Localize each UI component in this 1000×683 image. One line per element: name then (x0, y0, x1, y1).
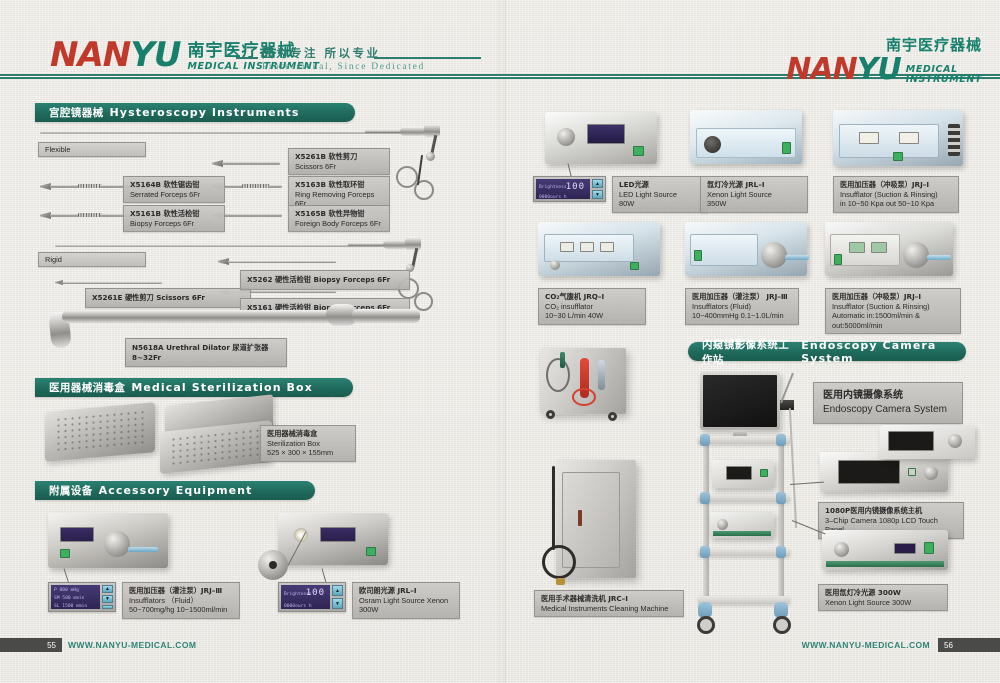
sterilization-box-caption-cn: 医用器械消毒盒 (267, 429, 349, 439)
caption-insufflator-fluid-en: Insufflators （Fluid） (129, 596, 233, 606)
cleaning-machine-top-caster-right (608, 412, 617, 421)
brand-wordmark-right: NANYU (786, 55, 901, 85)
rigid-biopsy-shaft-1 (228, 261, 336, 263)
lcd-led-label: Brightness (539, 185, 567, 190)
caption-xenon-en: Xenon Light Source (707, 190, 801, 200)
device-xenon-300w-stripe (826, 561, 944, 567)
device-xenon-300w (822, 530, 948, 570)
brand-wordmark-nan: NAN (50, 35, 130, 75)
device-insufflator-fluid (48, 513, 168, 568)
device-insufflator-fluid-2-power-led (694, 250, 702, 261)
rigid-scope-shaft (55, 245, 355, 247)
device-insufflator-suction-2-display-a (849, 242, 865, 253)
device-co2-display-c (600, 242, 614, 252)
lcd-button-down[interactable]: ▼ (102, 595, 113, 603)
lcd-callout-osram-screen: Brightness 100 0000ours h (281, 585, 330, 609)
device-osram-power-led (366, 547, 376, 556)
device-insufflator-suction-1-display-a (859, 132, 879, 144)
device-co2-display-b (580, 242, 594, 252)
caption-insufflator-fluid-2: 医用加压器（灌注泵） JRJ–Ⅲ Insufflators (Fluid) 10… (685, 288, 799, 325)
cart-camera-unit-screen (726, 466, 752, 480)
instrument-caption-x5262: X5262 硬性活检钳 Biopsy Forceps 6Fr (240, 270, 410, 290)
lcd-callout-insufflator-fluid-screen: P 000 mHg SM 500 mmin SL 1500 mmin (51, 585, 100, 609)
caption-xenon-300w-cn: 医用氙灯冷光源 300W (825, 588, 941, 598)
cleaning-machine-green-handle (560, 352, 565, 368)
page-spine (498, 0, 506, 683)
instrument-caption-x5161b: X5161B 软性活检钳 Biopsy Forceps 6Fr (123, 205, 225, 232)
device-xenon-power-led (782, 142, 791, 154)
rigid-handle-ring-2 (414, 292, 433, 311)
scope-connector (400, 127, 426, 136)
endoscopy-monitor-screen (703, 375, 777, 427)
lcd-led-value: 100 (566, 182, 585, 192)
section-banner-accessory-en: Accessory Equipment (99, 484, 253, 497)
device-led-knob (557, 128, 575, 146)
group-label-rigid-text: Rigid (45, 255, 62, 264)
cart-joint-3r (776, 546, 786, 558)
caption-insufflator-suction-1-en: Insufflator (Suction & Rinsing) (840, 190, 952, 200)
lcd-callout-led-buttons[interactable]: ▲ ▼ (592, 179, 603, 199)
forceps-shaft-1a (50, 185, 80, 188)
leader-line-camera-host (790, 482, 824, 485)
flexible-scope-shaft (40, 132, 370, 134)
lcd-button-up[interactable]: ▲ (102, 585, 113, 593)
section-banner-hysteroscopy-cn: 宫腔镜器械 (49, 105, 104, 120)
sterilization-box-caption-dims: 525 × 300 × 155mm (267, 448, 349, 458)
instrument-caption-x5164b-cn: X5164B 软性锯齿钳 (130, 180, 218, 190)
instrument-caption-x5163b-cn: X5163B 软性取环钳 (295, 180, 383, 190)
device-camera-host-connector (924, 466, 938, 480)
device-insufflator-fluid-pump-head (104, 531, 130, 557)
forceps-ribbed-2 (78, 213, 102, 217)
endoscope-shaft (780, 373, 794, 403)
cleaning-machine-red-coil (572, 388, 596, 406)
cart-light-source-unit-stripe (713, 531, 771, 536)
caption-xenon-300w: 医用氙灯冷光源 300W Xenon Light Source 300W (818, 584, 948, 611)
sterilization-box-perforation (55, 409, 145, 455)
caption-camera-system: 医用内镜摄像系统 Endoscopy Camera System (813, 382, 963, 424)
device-insufflator-suction-1 (833, 110, 963, 166)
device-led-light-source (545, 112, 657, 164)
ring-forceps-shaft-a (222, 185, 244, 188)
sterilization-box-caption-en: Sterilization Box (267, 439, 349, 449)
rigid-scope-tube (348, 243, 388, 247)
brand-wordmark-right-nan: NAN (786, 52, 856, 87)
device-co2-gas-port (550, 260, 560, 270)
caption-insufflator-suction-2-cn: 医用加压器（冲吸泵）JRJ–Ⅰ (832, 292, 954, 302)
caption-camera-system-cn: 医用内镜摄像系统 (823, 389, 953, 403)
cart-joint-tl (700, 434, 710, 446)
cart-post-left (703, 436, 709, 618)
scope-thumb-knob (426, 152, 435, 161)
ring-forceps-ribbed (242, 184, 270, 188)
device-insufflator-fluid-power-led (60, 549, 70, 558)
rigid-scope-connector (383, 240, 407, 249)
caption-co2-en: CO₂ insufflator (545, 302, 639, 312)
page-header: NANYU 南宇医疗器械 MEDICAL INSTRUMENT 因为专注 所以专… (0, 0, 1000, 80)
cleaning-machine-door-handle (578, 510, 582, 526)
lcd-callout-insufflator-fluid-buttons[interactable]: ▲ ▼ (102, 585, 113, 609)
page-number-left-text: 55 (47, 641, 56, 650)
caption-insufflator-fluid: 医用加压器（灌注泵）JRJ–Ⅲ Insufflators （Fluid） 50~… (122, 582, 240, 619)
caption-xenon-watt: 350W (707, 199, 801, 209)
lcd-button-set[interactable] (102, 605, 113, 609)
lcd-osram-button-down[interactable]: ▼ (332, 598, 343, 609)
dilator-shaft (62, 310, 332, 323)
brand-subtitle-right-2: INSTRUMENT (906, 75, 982, 85)
caption-cleaning-machine-en: Medical Instruments Cleaning Machine (541, 604, 677, 614)
device-insufflator-suction-2-tubing (927, 255, 951, 260)
caption-co2-insufflator: CO₂气腹机 JRQ–Ⅰ CO₂ insufflator 10~30 L/min… (538, 288, 646, 325)
device-insufflator-suction-1-power-led (893, 152, 903, 161)
osram-connector-center (269, 561, 277, 569)
cart-joint-tr (776, 434, 786, 446)
section-banner-sterilization-cn: 医用器械消毒盒 (49, 380, 125, 395)
caption-insufflator-suction-2-spec: Automatic in:1500ml/min & out:5000ml/min (832, 311, 954, 330)
lcd-row-3: SL 1500 mmin (54, 604, 87, 609)
device-insufflator-suction-1-display-b (899, 132, 919, 144)
rigid-scope-body (405, 237, 421, 250)
device-xenon-300w-light-port (834, 542, 849, 557)
section-banner-endoscopy-camera: 内窥镜影像系统工作站 Endoscopy Camera System (688, 342, 966, 361)
instrument-caption-x5165b-en: Foreign Body Forceps 6Fr (295, 219, 383, 229)
device-camera-host-touch-panel[interactable] (838, 460, 900, 484)
sterilization-box-closed (45, 402, 155, 462)
cart-light-source-unit-port (717, 519, 728, 530)
section-banner-hysteroscopy-en: Hysteroscopy Instruments (110, 106, 300, 119)
device-insufflator-fluid-screen (60, 527, 94, 542)
lcd-osram-value: 100 (306, 588, 325, 598)
page-number-left: 55 (0, 638, 62, 652)
instrument-caption-x5161b-cn: X5161B 软性活检钳 (130, 209, 218, 219)
lcd-callout-osram-buttons[interactable]: ▲ ▼ (332, 585, 343, 609)
caption-osram-en: Osram Light Source Xenon (359, 596, 453, 606)
instrument-caption-x5261b-en: Scissors 6Fr (295, 162, 383, 172)
caption-led-cn: LED光源 (619, 180, 701, 190)
device-insufflator-suction-2-power-led (834, 254, 842, 265)
lcd-row-2: SM 500 mmin (54, 596, 84, 601)
cleaning-machine-spray-gun (598, 360, 605, 390)
caption-insufflator-fluid-2-cn: 医用加压器（灌注泵） JRJ–Ⅲ (692, 292, 792, 302)
flexible-scope-tube (365, 130, 405, 134)
website-left[interactable]: WWW.NANYU-MEDICAL.COM (68, 638, 196, 652)
caption-xenon-cn: 氙灯冷光源 JRL–Ⅰ (707, 180, 801, 190)
endoscope-light-cable (789, 408, 797, 528)
device-insufflator-suction-1-panel (839, 124, 939, 158)
brand-wordmark: NANYU (50, 38, 180, 72)
instrument-caption-x5165b: X5165B 软性异物钳 Foreign Body Forceps 6Fr (288, 205, 390, 232)
lcd-callout-led-screen: Brightness 100 0000ours h (536, 179, 590, 199)
device-xenon-300w-display (894, 543, 916, 554)
lcd-osram-button-up[interactable]: ▲ (332, 585, 343, 596)
section-banner-endoscopy-cn: 内窥镜影像系统工作站 (702, 337, 795, 367)
brand-wordmark-yu: YU (130, 35, 180, 75)
device-led-power-led (633, 146, 644, 156)
caption-insufflator-suction-2: 医用加压器（冲吸泵）JRJ–Ⅰ Insufflator (Suction & R… (825, 288, 961, 334)
cleaning-machine-hose-run (552, 466, 555, 550)
lcd-callout-osram[interactable]: Brightness 100 0000ours h ▲ ▼ (278, 582, 346, 612)
device-insufflator-suction-2-pump-head (903, 242, 929, 268)
device-camera-host-rear (880, 425, 975, 459)
device-xenon-300w-power-led[interactable] (924, 542, 934, 554)
instrument-caption-x5261e-text: X5261E 硬性剪刀 Scissors 6Fr (92, 293, 205, 302)
device-camera-host-button[interactable] (908, 468, 916, 476)
section-banner-accessory: 附属设备 Accessory Equipment (35, 481, 315, 500)
cart-joint-2l (700, 492, 710, 504)
device-co2-display-a (560, 242, 574, 252)
lcd-led-sub: 0000ours h (539, 195, 567, 199)
instrument-caption-x5164b: X5164B 软性锯齿钳 Serrated Forceps 6Fr (123, 176, 225, 203)
caption-led-en: LED Light Source (619, 190, 701, 200)
sterilization-tray-perforation (170, 427, 262, 467)
caption-camera-host-cn: 1080P医用内镜摄像系统主机 (825, 506, 957, 516)
section-banner-sterilization: 医用器械消毒盒 Medical Sterilization Box (35, 378, 353, 397)
device-co2-power-led (630, 262, 639, 270)
device-insufflator-fluid-2-tubing (785, 255, 809, 260)
cart-camera-unit (712, 460, 774, 488)
cleaning-machine-gray-coil (546, 358, 570, 392)
section-banner-accessory-cn: 附属设备 (49, 483, 93, 498)
cart-post-right (778, 436, 784, 618)
caption-insufflator-suction-2-en: Insufflator (Suction & Rinsing) (832, 302, 954, 312)
caption-insufflator-fluid-cn: 医用加压器（灌注泵）JRJ–Ⅲ (129, 586, 233, 596)
caption-led-watt: 80W (619, 199, 701, 209)
tagline-rule-left (236, 57, 258, 59)
instrument-caption-x5262-text: X5262 硬性活检钳 Biopsy Forceps 6Fr (247, 275, 390, 284)
device-camera-host-rear-screen (888, 431, 934, 451)
caption-co2-spec: 10~30 L/min 40W (545, 311, 639, 321)
scope-body (424, 124, 440, 137)
device-insufflator-fluid-2 (685, 222, 807, 276)
caption-xenon-300w-en: Xenon Light Source 300W (825, 598, 941, 608)
page-footer: 55 WWW.NANYU-MEDICAL.COM WWW.NANYU-MEDIC… (0, 630, 1000, 683)
forceps-shaft-2a (50, 214, 80, 217)
page-number-right-text: 56 (944, 641, 953, 650)
device-osram-light-source (278, 513, 388, 565)
cart-light-source-unit (710, 512, 774, 538)
caption-insufflator-suction-1: 医用加压器（冲吸泵）JRJ–Ⅰ Insufflator (Suction & R… (833, 176, 959, 213)
cart-camera-unit-led (760, 469, 768, 477)
device-xenon-light-source (690, 110, 802, 164)
caption-insufflator-fluid-2-spec: 10~400mmHg 0.1~1.0L/min (692, 311, 792, 321)
lcd-callout-led[interactable]: Brightness 100 0000ours h ▲ ▼ (533, 176, 606, 202)
instrument-caption-x5165b-cn: X5165B 软性异物钳 (295, 209, 383, 219)
device-co2-insufflator (538, 222, 660, 276)
dilator-handle (352, 309, 420, 323)
group-label-rigid: Rigid (38, 252, 146, 267)
lcd-osram-sub: 0000ours h (284, 604, 312, 609)
group-label-flexible-text: Flexible (45, 145, 70, 154)
cart-joint-2r (776, 492, 786, 504)
caption-insufflator-suction-1-cn: 医用加压器（冲吸泵）JRJ–Ⅰ (840, 180, 952, 190)
sterilization-box-caption: 医用器械消毒盒 Sterilization Box 525 × 300 × 15… (260, 425, 356, 462)
device-xenon-light-port (704, 136, 721, 153)
forceps-ribbed-1 (78, 184, 102, 188)
caption-osram-watt: 300W (359, 605, 453, 615)
caption-insufflator-fluid-2-en: Insufflators (Fluid) (692, 302, 792, 312)
caption-xenon-light-source: 氙灯冷光源 JRL–Ⅰ Xenon Light Source 350W (700, 176, 808, 213)
instrument-caption-x5164b-en: Serrated Forceps 6Fr (130, 190, 218, 200)
brand-logo-right: 南宇医疗器械 NANYU MEDICAL INSTRUMENT (786, 34, 982, 85)
tagline-en: Professional, Since Dedicated (262, 62, 462, 72)
catalog-page: NANYU 南宇医疗器械 MEDICAL INSTRUMENT 因为专注 所以专… (0, 0, 1000, 683)
device-camera-host-rear-connector (948, 434, 962, 448)
instrument-caption-x5261b-cn: X5261B 软性剪刀 (295, 152, 383, 162)
website-right[interactable]: WWW.NANYU-MEDICAL.COM (802, 638, 930, 652)
group-label-flexible: Flexible (38, 142, 146, 157)
section-banner-hysteroscopy: 宫腔镜器械 Hysteroscopy Instruments (35, 103, 355, 122)
instrument-caption-x5261b: X5261B 软性剪刀 Scissors 6Fr (288, 148, 390, 175)
device-insufflator-suction-1-ports (948, 124, 960, 156)
caption-cleaning-machine-cn: 医用手术器械清洗机 JRC–Ⅰ (541, 594, 677, 604)
instrument-caption-n5618a: N5618A Urethral Dilator 尿道扩张器 8~32Fr (125, 338, 287, 367)
page-number-right: 56 (938, 638, 1000, 652)
rigid-scissors-shaft (62, 282, 162, 284)
caption-co2-cn: CO₂气腹机 JRQ–Ⅰ (545, 292, 639, 302)
lcd-led-button-up[interactable]: ▲ (592, 179, 603, 188)
caption-cleaning-machine: 医用手术器械清洗机 JRC–Ⅰ Medical Instruments Clea… (534, 590, 684, 617)
instrument-caption-x5261e: X5261E 硬性剪刀 Scissors 6Fr (85, 288, 251, 308)
instrument-caption-x5161b-en: Biopsy Forceps 6Fr (130, 219, 218, 229)
device-insufflator-suction-2-display-b (871, 242, 887, 253)
caption-insufflator-fluid-spec: 50~700mg/hg 10~1500ml/min (129, 605, 233, 615)
caption-camera-system-en: Endoscopy Camera System (823, 403, 953, 417)
lcd-callout-insufflator-fluid[interactable]: P 000 mHg SM 500 mmin SL 1500 mmin ▲ ▼ (48, 582, 116, 612)
cleaning-machine-nozzle (556, 578, 565, 585)
caption-insufflator-suction-1-spec: in 10~50 Kpa out 50~10 Kpa (840, 199, 952, 209)
scissors-shaft-top (222, 162, 280, 165)
caption-osram-cn: 欧司朗光源 JRL–Ⅰ (359, 586, 453, 596)
device-insufflator-suction-2 (825, 222, 953, 276)
device-insufflator-fluid-2-pump-head (761, 242, 787, 268)
ring-forceps-shaft-b (268, 185, 282, 188)
lcd-led-button-down[interactable]: ▼ (592, 190, 603, 199)
instrument-caption-n5618a-text: N5618A Urethral Dilator 尿道扩张器 8~32Fr (132, 343, 268, 362)
section-banner-sterilization-en: Medical Sterilization Box (131, 381, 313, 394)
caption-led-light-source: LED光源 LED Light Source 80W (612, 176, 708, 213)
cleaning-machine-hose-coil (542, 545, 576, 579)
cart-joint-3l (700, 546, 710, 558)
lcd-row-1: P 000 mHg (54, 588, 79, 593)
brand-wordmark-right-yu: YU (857, 52, 901, 87)
device-insufflator-fluid-tubing (128, 547, 158, 552)
device-osram-screen (320, 527, 356, 542)
device-led-screen (587, 124, 625, 144)
caption-osram-light-source: 欧司朗光源 JRL–Ⅰ Osram Light Source Xenon 300… (352, 582, 460, 619)
endoscopy-monitor (700, 372, 780, 430)
foreign-body-forceps-shaft (222, 214, 282, 217)
cleaning-machine-top-caster-left (546, 410, 555, 419)
section-banner-endoscopy-en: Endoscopy Camera System (801, 339, 966, 365)
tagline-rule-right (374, 57, 481, 59)
